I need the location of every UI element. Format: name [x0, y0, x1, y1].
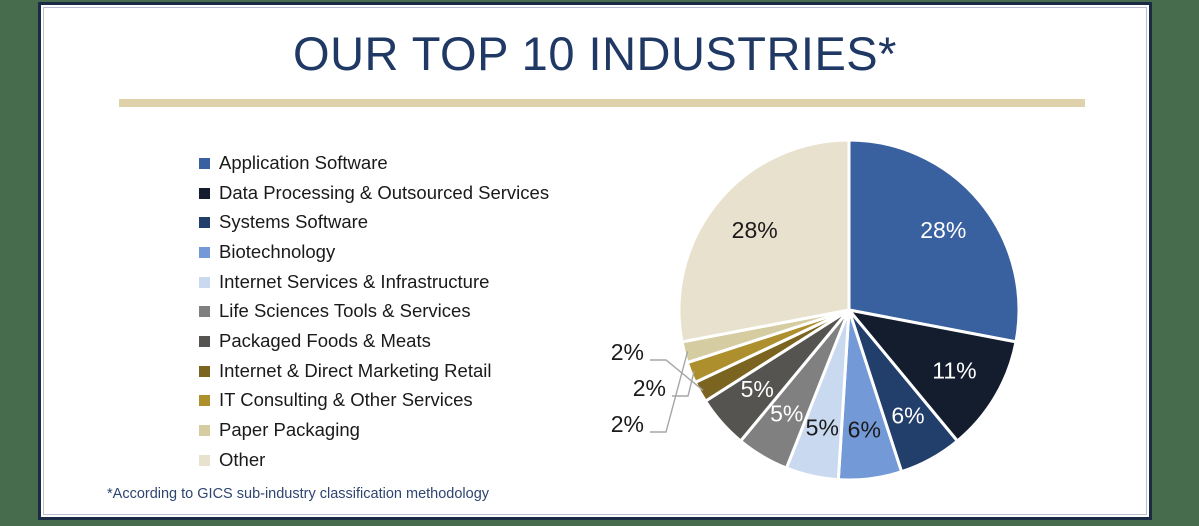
legend-item[interactable]: Biotechnology [199, 237, 599, 267]
legend-item-label: Paper Packaging [219, 419, 360, 441]
footnote-text: *According to GICS sub-industry classifi… [107, 486, 489, 502]
slide-frame: OUR TOP 10 INDUSTRIES* Application Softw… [38, 2, 1152, 520]
legend-item-label: Application Software [219, 152, 388, 174]
pie-slice-label: 28% [732, 217, 778, 243]
legend-swatch-icon [199, 158, 210, 169]
legend-item-label: Systems Software [219, 211, 368, 233]
pie-slice-label: 6% [891, 402, 924, 428]
legend-item-label: Other [219, 449, 265, 471]
legend-swatch-icon [199, 366, 210, 377]
pie-slice-label: 5% [770, 400, 803, 426]
legend-swatch-icon [199, 336, 210, 347]
legend-item[interactable]: Packaged Foods & Meats [199, 326, 599, 356]
legend-item-label: Life Sciences Tools & Services [219, 300, 471, 322]
legend-swatch-icon [199, 247, 210, 258]
page-title: OUR TOP 10 INDUSTRIES* [44, 26, 1146, 81]
legend-item[interactable]: Life Sciences Tools & Services [199, 296, 599, 326]
legend-item[interactable]: Systems Software [199, 207, 599, 237]
pie-slice-label: 2% [611, 411, 644, 437]
legend-item[interactable]: IT Consulting & Other Services [199, 386, 599, 416]
legend-item-label: Internet Services & Infrastructure [219, 271, 489, 293]
pie-slice-label: 11% [932, 357, 976, 383]
legend-item[interactable]: Application Software [199, 148, 599, 178]
pie-slice-label: 2% [611, 339, 644, 365]
legend-swatch-icon [199, 277, 210, 288]
legend-item[interactable]: Other [199, 445, 599, 475]
pie-slice-label: 2% [633, 375, 666, 401]
slide-canvas: OUR TOP 10 INDUSTRIES* Application Softw… [43, 7, 1147, 515]
pie-chart-svg: 28%11%6%6%5%5%5%28%2%2%2% [584, 120, 1054, 515]
legend-swatch-icon [199, 217, 210, 228]
legend-item-label: Data Processing & Outsourced Services [219, 182, 549, 204]
legend-item-label: Packaged Foods & Meats [219, 330, 431, 352]
legend-swatch-icon [199, 306, 210, 317]
legend-swatch-icon [199, 455, 210, 466]
pie-slice-label: 28% [920, 217, 966, 243]
legend-swatch-icon [199, 395, 210, 406]
legend-item[interactable]: Paper Packaging [199, 415, 599, 445]
legend-swatch-icon [199, 188, 210, 199]
legend-item-label: IT Consulting & Other Services [219, 389, 473, 411]
legend-item[interactable]: Data Processing & Outsourced Services [199, 178, 599, 208]
pie-chart: 28%11%6%6%5%5%5%28%2%2%2% [584, 120, 1054, 515]
legend-item[interactable]: Internet Services & Infrastructure [199, 267, 599, 297]
legend-item-label: Biotechnology [219, 241, 335, 263]
legend-item-label: Internet & Direct Marketing Retail [219, 360, 491, 382]
pie-slice-label: 6% [848, 416, 881, 442]
legend-swatch-icon [199, 425, 210, 436]
pie-slice-label: 5% [741, 376, 774, 402]
title-divider-rule [119, 99, 1085, 107]
legend-item[interactable]: Internet & Direct Marketing Retail [199, 356, 599, 386]
chart-legend: Application SoftwareData Processing & Ou… [199, 148, 599, 475]
pie-slice-label: 5% [806, 415, 839, 441]
